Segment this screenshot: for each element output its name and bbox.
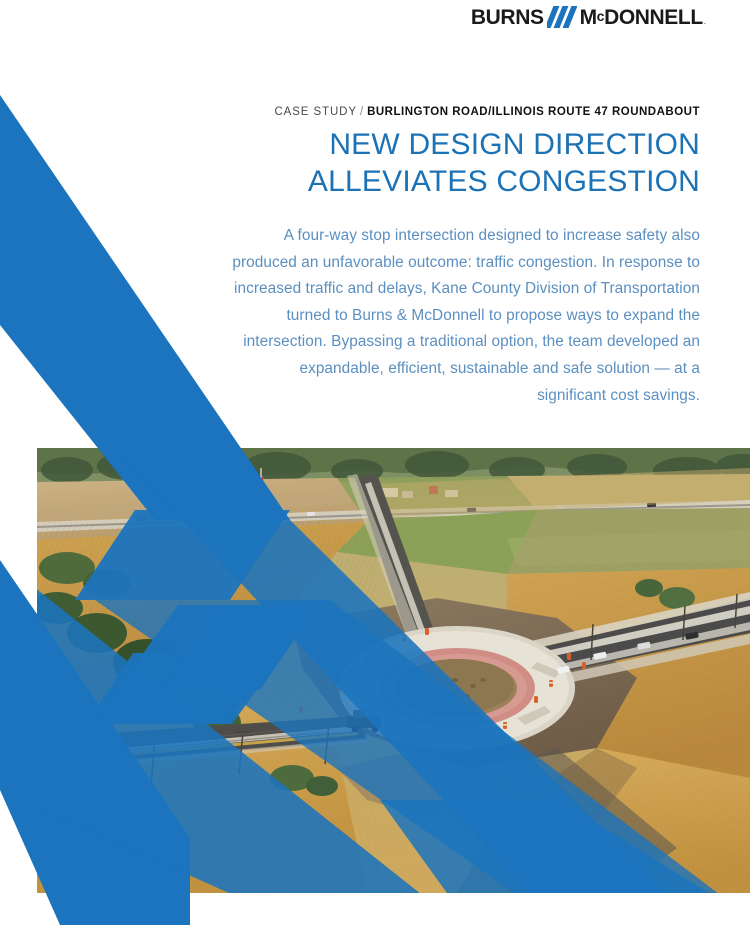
breadcrumb: CASE STUDY/BURLINGTON ROAD/ILLINOIS ROUT… [230, 104, 700, 120]
eyebrow-label: CASE STUDY [274, 106, 357, 118]
page-title: NEW DESIGN DIRECTION ALLEVIATES CONGESTI… [230, 127, 700, 201]
logo-wordmark-burns: BURNS [471, 7, 544, 28]
burns-mcdonnell-logo: BURNS McDONNELL . [471, 6, 706, 28]
headline-line-1: NEW DESIGN DIRECTION [329, 128, 700, 161]
eyebrow-separator: / [360, 106, 364, 118]
logo-wordmark-mcdonnell: McDONNELL [580, 7, 703, 28]
lede-paragraph: A four-way stop intersection designed to… [230, 223, 700, 409]
headline-line-2: ALLEVIATES CONGESTION [308, 165, 700, 198]
aerial-roundabout-photo [37, 448, 750, 893]
registered-trademark-icon: . [704, 17, 706, 28]
header-text-block: CASE STUDY/BURLINGTON ROAD/ILLINOIS ROUT… [230, 104, 700, 409]
aerial-photo-illustration [37, 448, 750, 893]
eyebrow-subject: BURLINGTON ROAD/ILLINOIS ROUTE 47 ROUNDA… [367, 106, 700, 118]
three-slash-mark-icon [547, 6, 577, 28]
